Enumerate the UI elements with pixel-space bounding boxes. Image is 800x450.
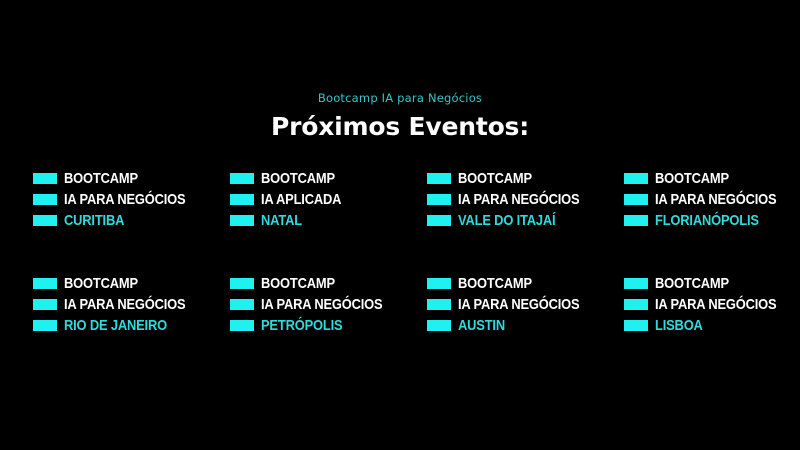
event-line-city: RIO DE JANEIRO	[33, 315, 223, 336]
bullet-square-icon	[624, 173, 648, 184]
event-line-topic: IA PARA NEGÓCIOS	[33, 189, 223, 210]
bullet-square-icon	[230, 299, 254, 310]
bullet-square-icon	[33, 194, 57, 205]
event-topic-label: IA PARA NEGÓCIOS	[64, 192, 185, 207]
event-topic-label: IA PARA NEGÓCIOS	[655, 297, 776, 312]
bullet-square-icon	[33, 320, 57, 331]
bullet-square-icon	[427, 278, 451, 289]
event-topic-label: IA PARA NEGÓCIOS	[655, 192, 776, 207]
event-line-program: BOOTCAMP	[624, 273, 800, 294]
event-program-label: BOOTCAMP	[458, 171, 532, 186]
event-line-topic: IA PARA NEGÓCIOS	[427, 294, 617, 315]
bullet-square-icon	[33, 299, 57, 310]
page-title: Próximos Eventos:	[0, 112, 800, 142]
bullet-square-icon	[427, 215, 451, 226]
slide-header: Bootcamp IA para Negócios Próximos Event…	[0, 90, 800, 142]
event-topic-label: IA PARA NEGÓCIOS	[458, 297, 579, 312]
event-line-program: BOOTCAMP	[427, 273, 617, 294]
event-card[interactable]: BOOTCAMP IA PARA NEGÓCIOS FLORIANÓPOLIS	[624, 168, 800, 273]
bullet-square-icon	[624, 215, 648, 226]
event-city-label: NATAL	[261, 213, 302, 228]
event-city-label: AUSTIN	[458, 318, 505, 333]
bullet-square-icon	[624, 278, 648, 289]
event-program-label: BOOTCAMP	[261, 276, 335, 291]
event-topic-label: IA PARA NEGÓCIOS	[64, 297, 185, 312]
event-line-city: VALE DO ITAJAÍ	[427, 210, 617, 231]
event-line-program: BOOTCAMP	[624, 168, 800, 189]
bullet-square-icon	[427, 194, 451, 205]
event-topic-label: IA APLICADA	[261, 192, 341, 207]
event-line-city: CURITIBA	[33, 210, 223, 231]
bullet-square-icon	[230, 278, 254, 289]
event-city-label: CURITIBA	[64, 213, 124, 228]
bullet-square-icon	[230, 173, 254, 184]
slide-empty-area	[0, 350, 800, 450]
event-program-label: BOOTCAMP	[261, 171, 335, 186]
event-city-label: PETRÓPOLIS	[261, 318, 342, 333]
bullet-square-icon	[427, 173, 451, 184]
event-program-label: BOOTCAMP	[458, 276, 532, 291]
event-line-city: AUSTIN	[427, 315, 617, 336]
event-card[interactable]: BOOTCAMP IA APLICADA NATAL	[230, 168, 420, 273]
bullet-square-icon	[624, 194, 648, 205]
event-city-label: VALE DO ITAJAÍ	[458, 213, 555, 228]
event-topic-label: IA PARA NEGÓCIOS	[458, 192, 579, 207]
event-program-label: BOOTCAMP	[64, 276, 138, 291]
bullet-square-icon	[230, 215, 254, 226]
event-card[interactable]: BOOTCAMP IA PARA NEGÓCIOS CURITIBA	[33, 168, 223, 273]
event-line-topic: IA PARA NEGÓCIOS	[624, 294, 800, 315]
events-grid: BOOTCAMP IA PARA NEGÓCIOS CURITIBA BOOTC…	[33, 168, 775, 378]
presentation-slide: Bootcamp IA para Negócios Próximos Event…	[0, 0, 800, 450]
event-city-label: LISBOA	[655, 318, 703, 333]
event-line-city: FLORIANÓPOLIS	[624, 210, 800, 231]
event-line-city: PETRÓPOLIS	[230, 315, 420, 336]
event-topic-label: IA PARA NEGÓCIOS	[261, 297, 382, 312]
bullet-square-icon	[230, 320, 254, 331]
bullet-square-icon	[624, 320, 648, 331]
bullet-square-icon	[427, 299, 451, 310]
event-line-program: BOOTCAMP	[230, 273, 420, 294]
event-city-label: FLORIANÓPOLIS	[655, 213, 759, 228]
bullet-square-icon	[230, 194, 254, 205]
event-card[interactable]: BOOTCAMP IA PARA NEGÓCIOS VALE DO ITAJAÍ	[427, 168, 617, 273]
event-line-topic: IA PARA NEGÓCIOS	[427, 189, 617, 210]
event-program-label: BOOTCAMP	[64, 171, 138, 186]
bullet-square-icon	[624, 299, 648, 310]
event-city-label: RIO DE JANEIRO	[64, 318, 167, 333]
event-program-label: BOOTCAMP	[655, 171, 729, 186]
event-line-topic: IA APLICADA	[230, 189, 420, 210]
bullet-square-icon	[33, 215, 57, 226]
event-line-program: BOOTCAMP	[33, 168, 223, 189]
event-line-program: BOOTCAMP	[230, 168, 420, 189]
event-line-topic: IA PARA NEGÓCIOS	[230, 294, 420, 315]
event-line-program: BOOTCAMP	[33, 273, 223, 294]
bullet-square-icon	[427, 320, 451, 331]
bullet-square-icon	[33, 278, 57, 289]
event-line-topic: IA PARA NEGÓCIOS	[624, 189, 800, 210]
slide-kicker: Bootcamp IA para Negócios	[0, 90, 800, 106]
event-line-city: NATAL	[230, 210, 420, 231]
event-line-city: LISBOA	[624, 315, 800, 336]
event-line-program: BOOTCAMP	[427, 168, 617, 189]
bullet-square-icon	[33, 173, 57, 184]
event-line-topic: IA PARA NEGÓCIOS	[33, 294, 223, 315]
event-program-label: BOOTCAMP	[655, 276, 729, 291]
